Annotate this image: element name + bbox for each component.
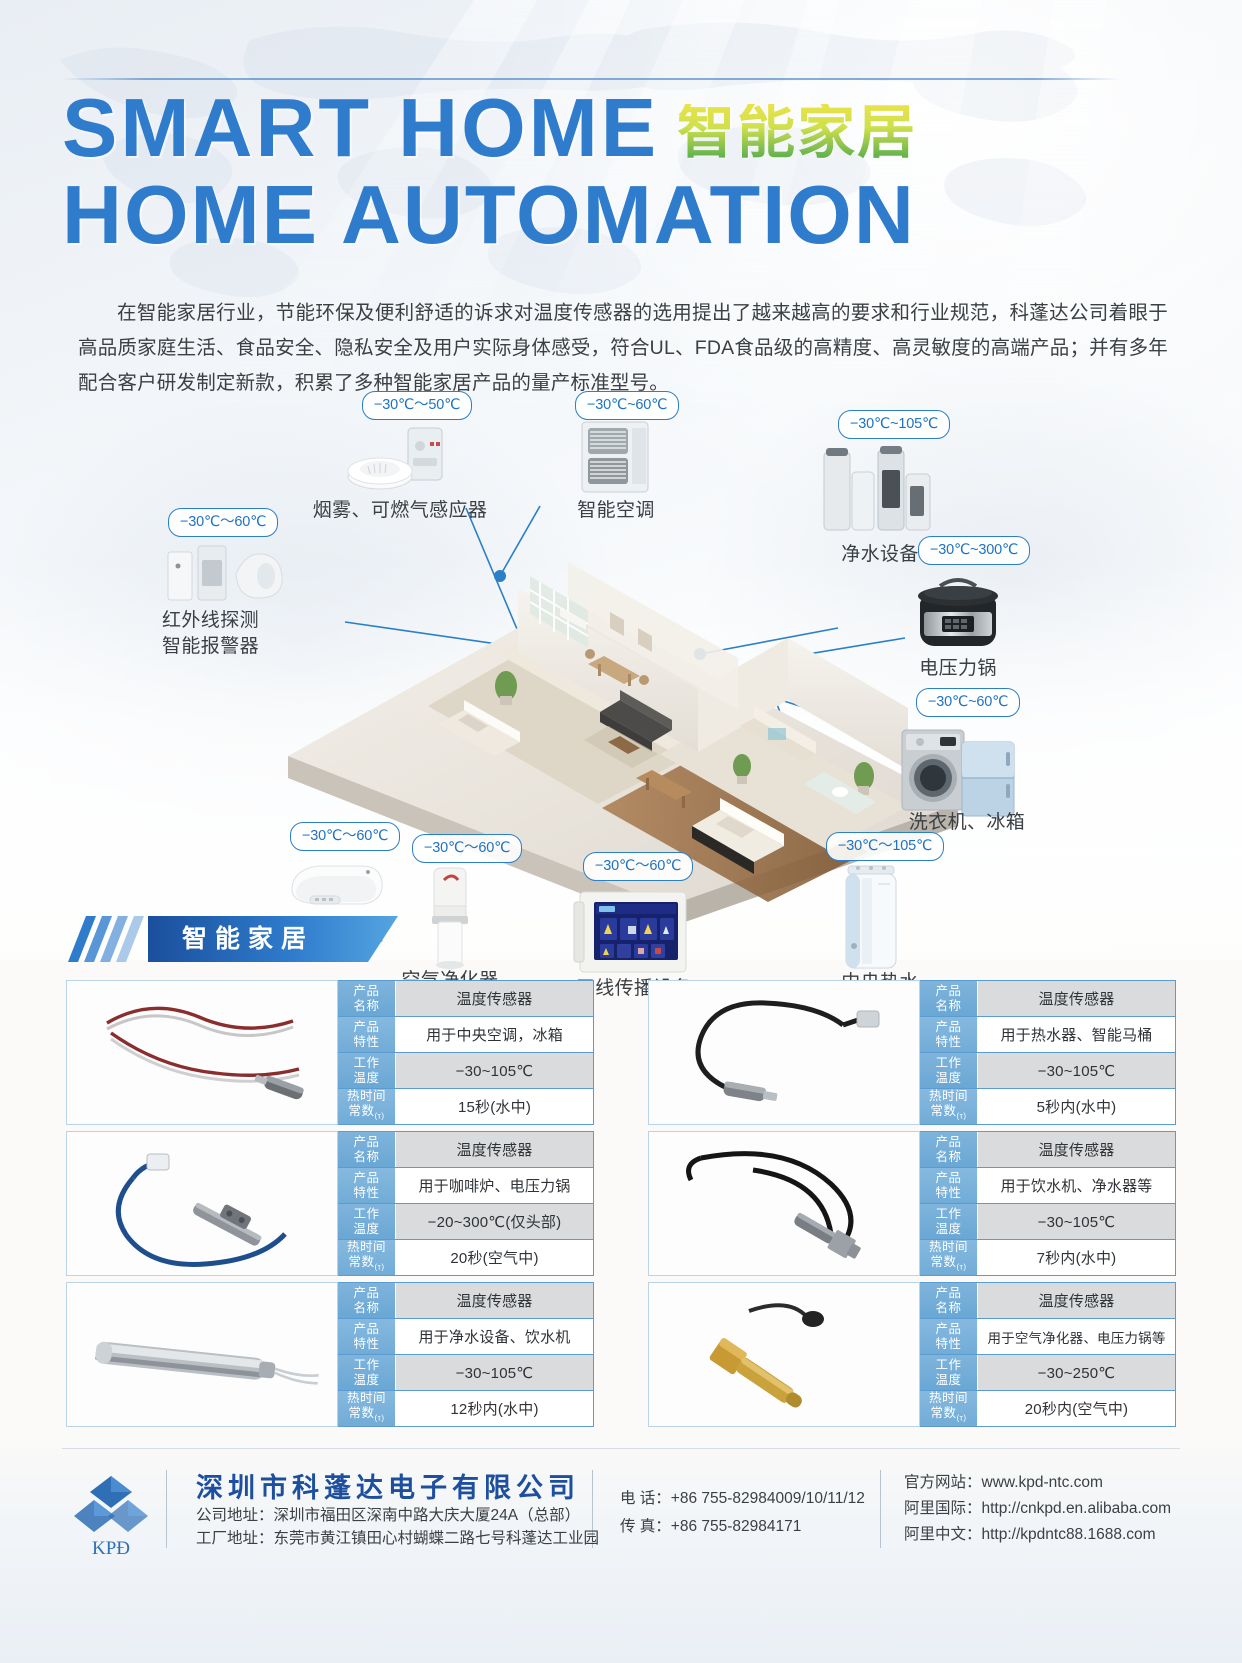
product-spec-table: 产品名称 温度传感器 产品特性 用于空气净化器、电压力锅等 工作温度 −30~2… [920,1282,1176,1427]
spec-key-time-constant: 热时间常数(τ) [920,1391,978,1426]
product-photo-sensor-air-purifier-cooker [648,1282,920,1427]
product-spec-table: 产品名称 温度传感器 产品特性 用于热水器、智能马桶 工作温度 −30~105℃… [920,980,1176,1125]
section-title: 智能家居 [182,925,314,953]
spec-key-feature: 产品特性 [338,1319,396,1354]
spec-value-temperature: −30~105℃ [396,1053,593,1088]
spec-row-name: 产品名称 温度传感器 [338,1283,593,1319]
spec-value-temperature: −30~105℃ [978,1053,1175,1088]
spec-value-time-constant: 20秒内(空气中) [978,1391,1175,1426]
spec-key-name: 产品名称 [338,1283,396,1318]
hero-title-en-line2: HOME AUTOMATION [62,174,1182,255]
hero-divider [62,78,1120,80]
spec-value-temperature: −30~250℃ [978,1355,1175,1390]
footer-addresses: 公司地址：深圳市福田区深南中路大庆大厦24A（总部） 工厂地址：东莞市黄江镇田心… [196,1504,599,1550]
spec-value-name: 温度传感器 [978,981,1175,1016]
spec-value-time-constant: 5秒内(水中) [978,1089,1175,1124]
product-photo-sensor-coffee-pressure-cooker [66,1131,338,1276]
smart-home-diagram: −30℃～50℃ 烟雾、可燃气感应器 −30℃~60℃ [0,386,1242,976]
spec-row-time-constant: 热时间常数(τ) 5秒内(水中) [920,1089,1175,1124]
spec-key-feature: 产品特性 [920,1319,978,1354]
spec-row-name: 产品名称 温度传感器 [920,1283,1175,1319]
product-spec-table: 产品名称 温度传感器 产品特性 用于咖啡炉、电压力锅 工作温度 −20~300℃… [338,1131,594,1276]
hero-title-block: SMART HOME 智能家居 HOME AUTOMATION [62,88,1182,255]
washer-fridge-icon [900,722,1020,818]
spec-value-temperature: −30~105℃ [978,1204,1175,1239]
spec-value-feature: 用于空气净化器、电压力锅等 [978,1319,1175,1354]
spec-key-time-constant: 热时间常数(τ) [920,1240,978,1275]
caption-infrared-alarm: 红外线探测 智能报警器 [162,608,362,660]
hero-title-en-line1: SMART HOME [62,88,659,168]
infrared-alarm-icon [166,540,286,608]
footer-company-name: 深圳市科蓬达电子有限公司 [196,1466,580,1505]
product-photo-sensor-purifier-dispenser [66,1282,338,1427]
central-hot-water-icon [840,864,902,972]
spec-row-name: 产品名称 温度传感器 [338,1132,593,1168]
spec-key-temperature: 工作温度 [920,1355,978,1390]
spec-key-name: 产品名称 [920,1283,978,1318]
callout-range-air-purifier: −30℃～60℃ [412,834,522,863]
spec-value-name: 温度传感器 [978,1283,1175,1318]
product-card[interactable]: 产品名称 温度传感器 产品特性 用于饮水机、净水器等 工作温度 −30~105℃… [648,1131,1176,1276]
kpd-logo: KPĐ [74,1470,148,1558]
spec-row-name: 产品名称 温度传感器 [920,1132,1175,1168]
spec-key-temperature: 工作温度 [338,1053,396,1088]
callout-range-wireless-gateway: −30℃～60℃ [583,852,693,881]
footer-address-factory: 工厂地址：东莞市黄江镇田心村蝴蝶二路七号科蓬达工业园 [196,1527,599,1550]
spec-row-temperature: 工作温度 −30~105℃ [338,1053,593,1089]
spec-row-feature: 产品特性 用于咖啡炉、电压力锅 [338,1168,593,1204]
spec-value-feature: 用于热水器、智能马桶 [978,1017,1175,1052]
spec-value-feature: 用于咖啡炉、电压力锅 [396,1168,593,1203]
smoke-gas-sensor-icon [344,426,456,498]
spec-key-time-constant: 热时间常数(τ) [338,1089,396,1124]
spec-row-temperature: 工作温度 −30~105℃ [920,1053,1175,1089]
callout-range-washer-fridge: −30℃~60℃ [916,688,1020,717]
spec-key-name: 产品名称 [338,1132,396,1167]
product-card[interactable]: 产品名称 温度传感器 产品特性 用于咖啡炉、电压力锅 工作温度 −20~300℃… [66,1131,594,1276]
smart-air-conditioner-icon [576,418,656,496]
product-photo-sensor-water-heater-toilet [648,980,920,1125]
spec-value-temperature: −30~105℃ [396,1355,593,1390]
hero-title-cn: 智能家居 [677,104,917,162]
spec-value-time-constant: 20秒(空气中) [396,1240,593,1275]
spec-row-temperature: 工作温度 −30~105℃ [920,1204,1175,1240]
callout-range-electric-pressure-cooker: −30℃~300℃ [918,536,1030,565]
section-banner: 智能家居 [66,916,496,962]
spec-key-time-constant: 热时间常数(τ) [338,1240,396,1275]
product-spec-table: 产品名称 温度传感器 产品特性 用于中央空调，冰箱 工作温度 −30~105℃ … [338,980,594,1125]
product-spec-table: 产品名称 温度传感器 产品特性 用于净水设备、饮水机 工作温度 −30~105℃… [338,1282,594,1427]
wireless-gateway-icon [570,886,696,978]
spec-key-temperature: 工作温度 [920,1053,978,1088]
spec-value-name: 温度传感器 [396,1132,593,1167]
footer-fax: 传 真：+86 755-82984171 [620,1513,865,1541]
footer-contact: 电 话：+86 755-82984009/10/11/12 传 真：+86 75… [620,1485,865,1541]
footer: KPĐ 深圳市科蓬达电子有限公司 公司地址：深圳市福田区深南中路大庆大厦24A（… [0,1448,1242,1663]
spec-value-name: 温度传感器 [396,1283,593,1318]
spec-row-time-constant: 热时间常数(τ) 15秒(水中) [338,1089,593,1124]
spec-value-time-constant: 7秒内(水中) [978,1240,1175,1275]
spec-value-name: 温度传感器 [978,1132,1175,1167]
footer-divider [62,1448,1180,1449]
footer-separator-3 [880,1470,881,1548]
product-card[interactable]: 产品名称 温度传感器 产品特性 用于热水器、智能马桶 工作温度 −30~105℃… [648,980,1176,1125]
spec-key-time-constant: 热时间常数(τ) [338,1391,396,1426]
footer-website-alibaba[interactable]: 阿里国际：http://cnkpd.en.alibaba.com [904,1496,1171,1522]
product-photo-sensor-central-ac-fridge [66,980,338,1125]
caption-smart-air-conditioner: 智能空调 [526,498,706,523]
footer-websites: 官方网站：www.kpd-ntc.com 阿里国际：http://cnkpd.e… [904,1470,1171,1548]
callout-range-smart-air-conditioner: −30℃~60℃ [575,391,679,420]
footer-address-hq: 公司地址：深圳市福田区深南中路大庆大厦24A（总部） [196,1504,599,1527]
caption-electric-pressure-cooker: 电压力锅 [878,656,1038,681]
product-photo-sensor-water-dispenser-purifier [648,1131,920,1276]
smart-toilet-seat-icon [282,856,390,918]
spec-row-feature: 产品特性 用于空气净化器、电压力锅等 [920,1319,1175,1355]
spec-key-time-constant: 热时间常数(τ) [920,1089,978,1124]
product-grid: 产品名称 温度传感器 产品特性 用于中央空调，冰箱 工作温度 −30~105℃ … [66,980,1176,1430]
spec-value-temperature: −20~300℃(仅头部) [396,1204,593,1239]
product-card[interactable]: 产品名称 温度传感器 产品特性 用于中央空调，冰箱 工作温度 −30~105℃ … [66,980,594,1125]
spec-key-temperature: 工作温度 [338,1204,396,1239]
footer-website-official[interactable]: 官方网站：www.kpd-ntc.com [904,1470,1171,1496]
electric-pressure-cooker-icon [912,568,1004,652]
spec-value-time-constant: 15秒(水中) [396,1089,593,1124]
callout-range-smoke-gas-sensor: −30℃～50℃ [362,391,472,420]
product-card[interactable]: 产品名称 温度传感器 产品特性 用于空气净化器、电压力锅等 工作温度 −30~2… [648,1282,1176,1427]
spec-row-feature: 产品特性 用于中央空调，冰箱 [338,1017,593,1053]
caption-infrared-alarm-text: 红外线探测 智能报警器 [162,610,259,657]
spec-row-name: 产品名称 温度传感器 [920,981,1175,1017]
product-spec-table: 产品名称 温度传感器 产品特性 用于饮水机、净水器等 工作温度 −30~105℃… [920,1131,1176,1276]
spec-row-name: 产品名称 温度传感器 [338,981,593,1017]
spec-row-time-constant: 热时间常数(τ) 20秒内(空气中) [920,1391,1175,1426]
spec-row-temperature: 工作温度 −30~105℃ [338,1355,593,1391]
footer-separator-1 [166,1470,167,1548]
spec-key-temperature: 工作温度 [920,1204,978,1239]
spec-row-feature: 产品特性 用于净水设备、饮水机 [338,1319,593,1355]
callout-range-water-purifier: −30℃~105℃ [838,410,950,439]
spec-value-feature: 用于净水设备、饮水机 [396,1319,593,1354]
callout-range-smart-toilet-seat: −30℃～60℃ [290,822,400,851]
spec-value-time-constant: 12秒内(水中) [396,1391,593,1426]
product-card[interactable]: 产品名称 温度传感器 产品特性 用于净水设备、饮水机 工作温度 −30~105℃… [66,1282,594,1427]
footer-telephone: 电 话：+86 755-82984009/10/11/12 [620,1485,865,1513]
footer-website-1688[interactable]: 阿里中文：http://kpdntc88.1688.com [904,1522,1171,1548]
spec-key-temperature: 工作温度 [338,1355,396,1390]
callout-range-central-hot-water: −30℃～105℃ [826,832,944,861]
spec-key-feature: 产品特性 [920,1168,978,1203]
callout-range-infrared-alarm: −30℃～60℃ [168,508,278,537]
spec-key-name: 产品名称 [920,1132,978,1167]
spec-value-name: 温度传感器 [396,981,593,1016]
spec-key-feature: 产品特性 [338,1168,396,1203]
spec-key-name: 产品名称 [338,981,396,1016]
spec-row-time-constant: 热时间常数(τ) 12秒内(水中) [338,1391,593,1426]
spec-row-feature: 产品特性 用于热水器、智能马桶 [920,1017,1175,1053]
spec-value-feature: 用于中央空调，冰箱 [396,1017,593,1052]
spec-row-temperature: 工作温度 −20~300℃(仅头部) [338,1204,593,1240]
caption-smoke-gas-sensor: 烟雾、可燃气感应器 [290,498,510,523]
spec-row-temperature: 工作温度 −30~250℃ [920,1355,1175,1391]
spec-key-feature: 产品特性 [920,1017,978,1052]
spec-key-name: 产品名称 [920,981,978,1016]
banner-hatch-decoration [66,916,152,962]
water-purifier-icon [820,442,940,534]
kpd-logo-text: KPĐ [92,1538,130,1558]
spec-row-time-constant: 热时间常数(τ) 20秒(空气中) [338,1240,593,1275]
spec-row-time-constant: 热时间常数(τ) 7秒内(水中) [920,1240,1175,1275]
spec-key-feature: 产品特性 [338,1017,396,1052]
spec-value-feature: 用于饮水机、净水器等 [978,1168,1175,1203]
spec-row-feature: 产品特性 用于饮水机、净水器等 [920,1168,1175,1204]
